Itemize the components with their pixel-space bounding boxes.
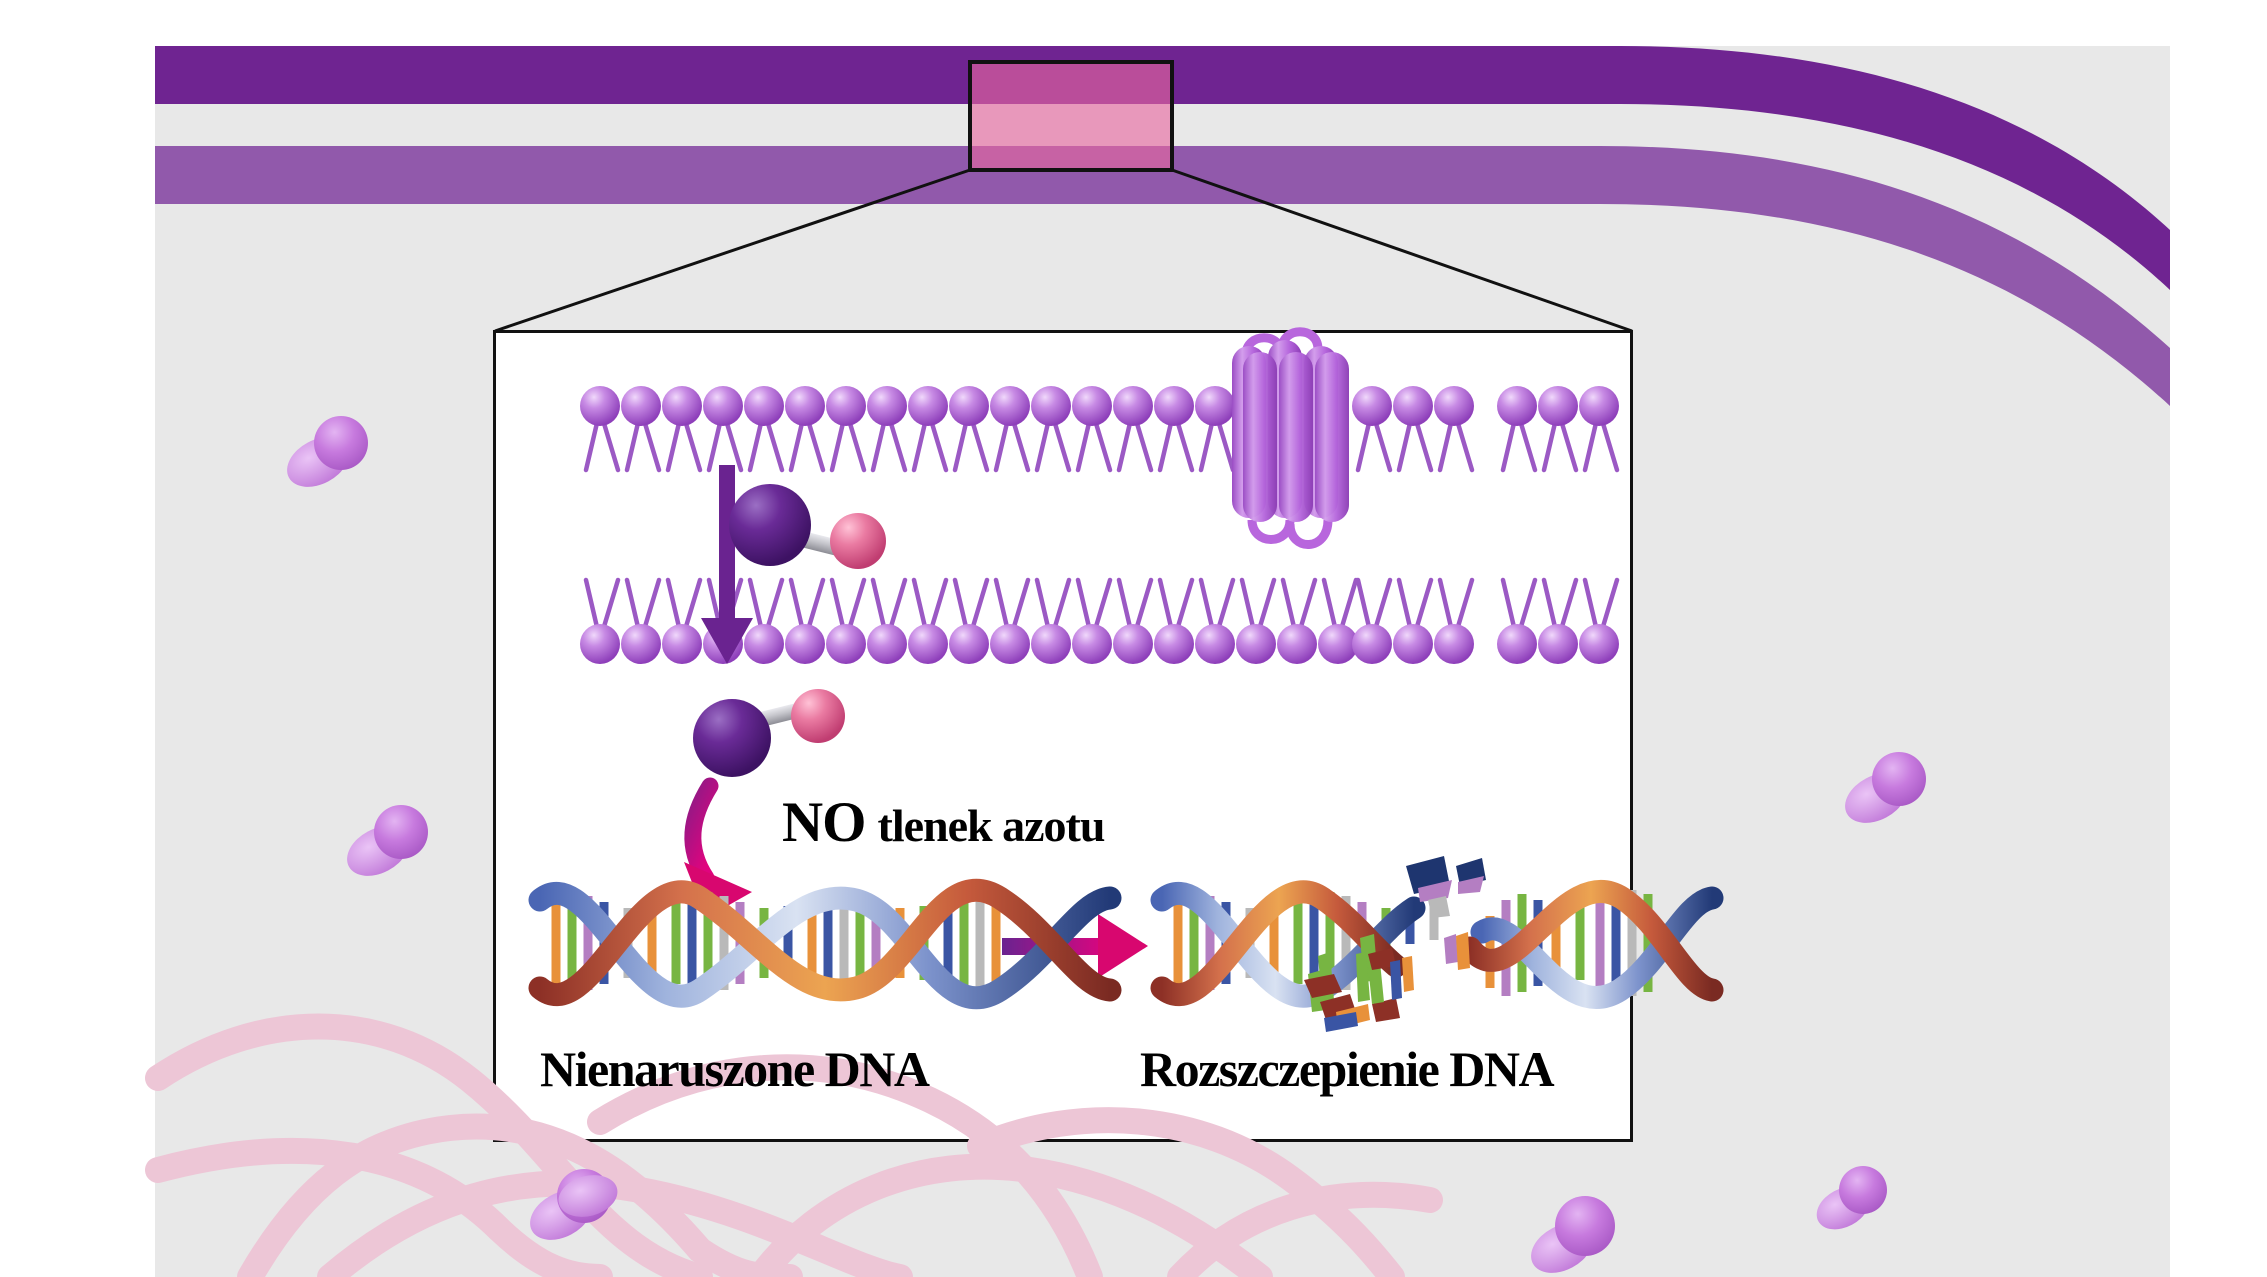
membrane-inner-band: [155, 146, 2170, 406]
vesicle: [1523, 1196, 1615, 1277]
diagram-svg: [0, 0, 2267, 1277]
zoom-panel-content: [540, 332, 1712, 1032]
nitric-oxide-molecule: [693, 689, 845, 777]
lipid-head-upper: [580, 386, 1619, 426]
membrane-highlight-region[interactable]: [970, 62, 1172, 170]
transmembrane-protein[interactable]: [1232, 332, 1349, 545]
figure-canvas: NOtlenek azotu Nienaruszone DNA Rozszcze…: [0, 0, 2267, 1277]
label-dna-cleaved: Rozszczepienie DNA: [1140, 1040, 1553, 1098]
vesicle: [1809, 1166, 1887, 1238]
vesicle: [339, 805, 428, 886]
vesicle: [279, 416, 368, 497]
dna-cleaved: [1162, 856, 1712, 1032]
label-dna-intact: Nienaruszone DNA: [540, 1040, 928, 1098]
no-name-text: tlenek azotu: [878, 800, 1105, 851]
vesicle: [1837, 752, 1926, 833]
no-label: NOtlenek azotu: [782, 790, 1104, 855]
no-abbrev-text: NO: [782, 791, 866, 854]
no-molecule-in-membrane: [729, 484, 886, 569]
bilayer-upper-leaflet: [580, 386, 1619, 470]
